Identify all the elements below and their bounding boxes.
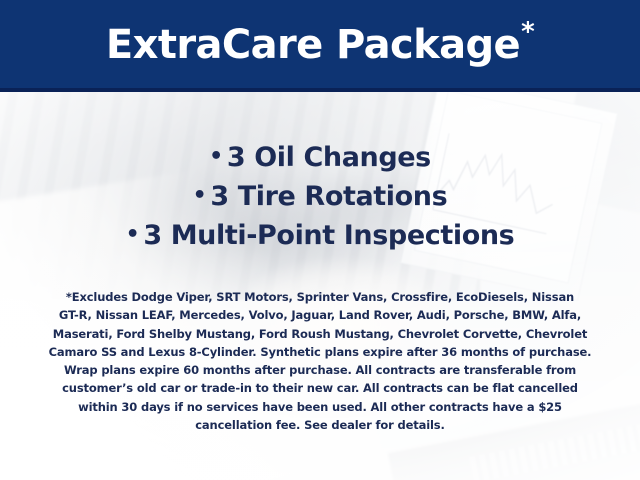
header-banner: ExtraCare Package* [0,0,640,92]
disclaimer-line: cancellation fee. See dealer for details… [28,416,612,434]
bullet-dot-icon: • [126,222,140,247]
extracare-package-poster: ExtraCare Package* •3 Oil Changes •3 Tir… [0,0,640,480]
list-item-label: 3 Tire Rotations [210,181,447,212]
page-title-text: ExtraCare Package [106,22,520,68]
bullet-dot-icon: • [209,144,223,169]
bullet-dot-icon: • [193,183,207,208]
disclaimer-line: within 30 days if no services have been … [28,398,612,416]
list-item: •3 Multi-Point Inspections [0,216,640,255]
disclaimer-line: *Excludes Dodge Viper, SRT Motors, Sprin… [28,288,612,306]
list-item: •3 Oil Changes [0,138,640,177]
disclaimer-line: Camaro SS and Lexus 8-Cylinder. Syntheti… [28,343,612,361]
disclaimer-line: Maserati, Ford Shelby Mustang, Ford Rous… [28,325,612,343]
disclaimer-line: Wrap plans expire 60 months after purcha… [28,361,612,379]
title-asterisk: * [521,17,534,47]
page-title: ExtraCare Package* [106,19,534,65]
disclaimer-line: customer’s old car or trade-in to their … [28,379,612,397]
disclaimer-text: *Excludes Dodge Viper, SRT Motors, Sprin… [28,288,612,434]
list-item-label: 3 Multi-Point Inspections [143,220,514,251]
disclaimer-line: GT-R, Nissan LEAF, Mercedes, Volvo, Jagu… [28,306,612,324]
benefits-list: •3 Oil Changes •3 Tire Rotations •3 Mult… [0,138,640,255]
list-item: •3 Tire Rotations [0,177,640,216]
list-item-label: 3 Oil Changes [227,142,431,173]
